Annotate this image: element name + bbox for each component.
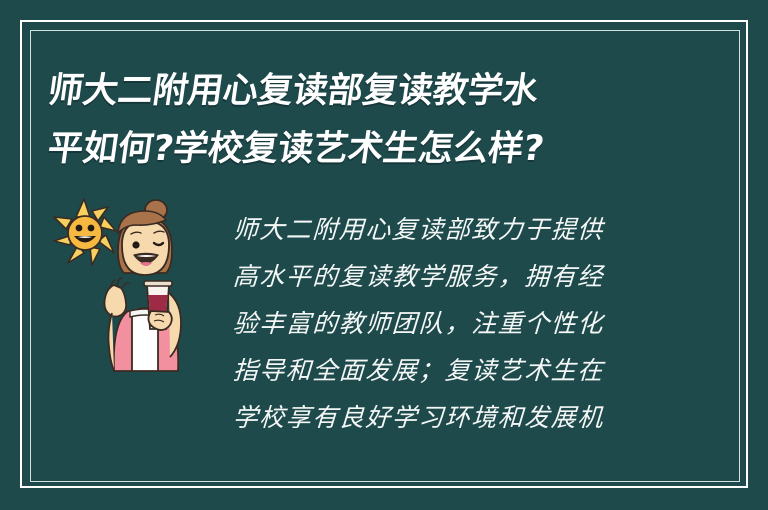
- body-line-5: 学校享有良好学习环境和发展机: [232, 394, 654, 441]
- body-line-4: 指导和全面发展；复读艺术生在: [232, 347, 654, 394]
- body-line-2: 高水平的复读教学服务，拥有经: [232, 253, 654, 300]
- girl-with-drink-and-sun-illustration: [52, 193, 210, 373]
- banner-canvas: 师大二附用心复读部复读教学水 平如何?学校复读艺术生怎么样?: [0, 0, 768, 510]
- body-line-1: 师大二附用心复读部致力于提供: [232, 206, 654, 253]
- body-paragraph: 师大二附用心复读部致力于提供 高水平的复读教学服务，拥有经 验丰富的教师团队，注…: [233, 206, 653, 441]
- girl-figure: [104, 200, 181, 371]
- body-line-3: 验丰富的教师团队，注重个性化: [232, 300, 654, 347]
- title-line-1: 师大二附用心复读部复读教学水: [44, 62, 712, 120]
- page-title: 师大二附用心复读部复读教学水 平如何?学校复读艺术生怎么样?: [48, 62, 708, 178]
- title-line-2: 平如何?学校复读艺术生怎么样?: [44, 120, 712, 178]
- sun-icon: [54, 199, 116, 265]
